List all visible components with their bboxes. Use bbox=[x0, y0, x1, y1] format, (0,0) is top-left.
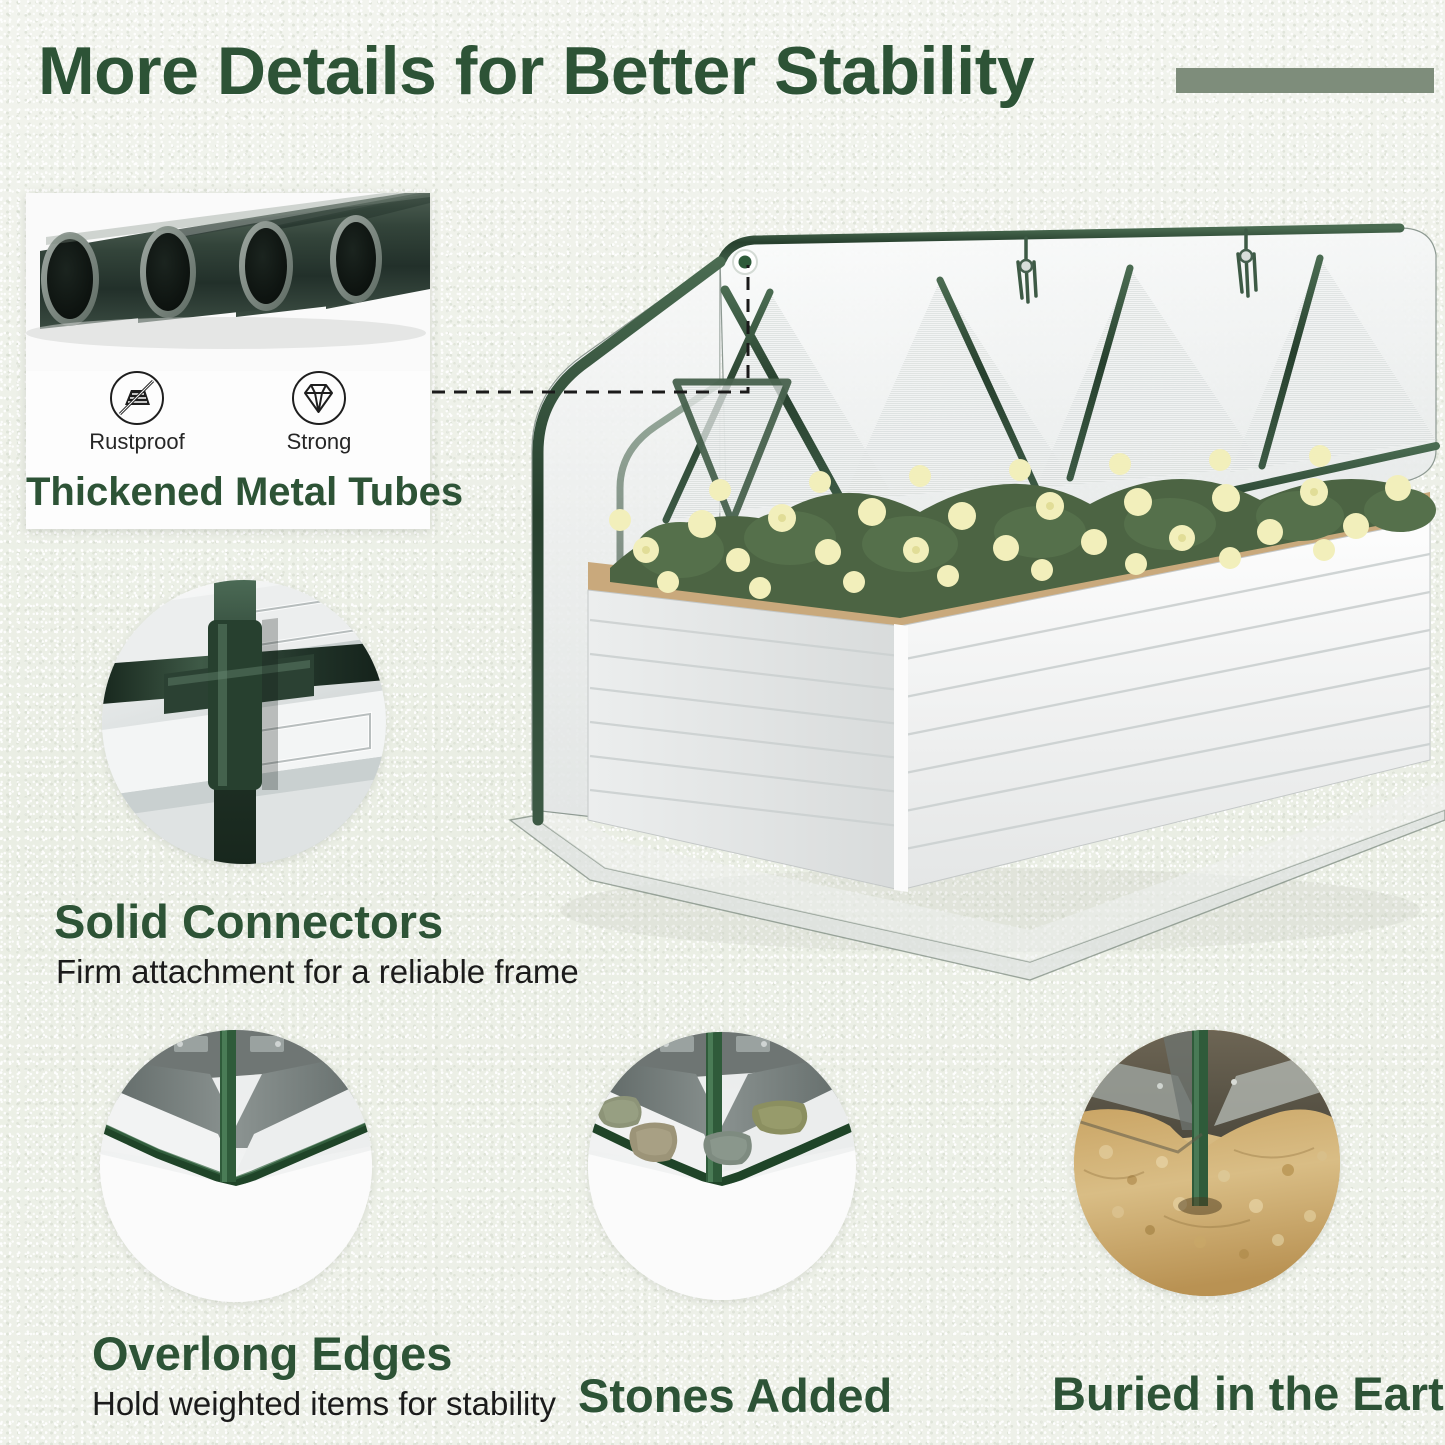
hero-greenhouse-photo bbox=[470, 120, 1445, 1010]
feature-solid-connectors: Solid Connectors Firm attachment for a r… bbox=[48, 580, 579, 991]
feature-title-buried: Buried in the Earth bbox=[1052, 1366, 1445, 1421]
title-accent-bar bbox=[1176, 68, 1434, 93]
icon-item-rustproof: Rustproof bbox=[77, 371, 197, 453]
feature-overlong-edges: Overlong Edges Hold weighted items for s… bbox=[92, 1030, 556, 1423]
icon-item-strong: Strong bbox=[259, 371, 379, 453]
rustproof-label: Rustproof bbox=[77, 431, 197, 453]
vent-callout-marker bbox=[733, 250, 757, 274]
tube-feature-icons: Rustproof Strong bbox=[26, 371, 430, 453]
page-title: More Details for Better Stability bbox=[38, 32, 1034, 110]
feature-buried-in-earth: Buried in the Earth bbox=[1052, 1030, 1445, 1421]
strong-label: Strong bbox=[259, 431, 379, 453]
overlong-edges-photo bbox=[100, 1030, 372, 1302]
feature-stones-added: Stones Added bbox=[578, 1032, 892, 1423]
feature-subtitle-edges: Hold weighted items for stability bbox=[92, 1385, 556, 1423]
metal-tubes-photo bbox=[26, 193, 430, 371]
feature-subtitle-connectors: Firm attachment for a reliable frame bbox=[56, 953, 579, 991]
feature-title-stones: Stones Added bbox=[578, 1368, 892, 1423]
thickened-metal-tubes-card: Rustproof Strong Thickened Metal T bbox=[26, 193, 430, 529]
stones-added-photo bbox=[588, 1032, 856, 1300]
infographic-canvas: More Details for Better Stability bbox=[0, 0, 1445, 1445]
connector-photo bbox=[102, 580, 386, 864]
buried-in-earth-photo bbox=[1074, 1030, 1340, 1296]
feature-title-connectors: Solid Connectors bbox=[54, 894, 579, 949]
rustproof-icon bbox=[110, 371, 164, 425]
strong-icon bbox=[292, 371, 346, 425]
feature-title-edges: Overlong Edges bbox=[92, 1326, 556, 1381]
tube-card-caption: Thickened Metal Tubes bbox=[26, 470, 430, 515]
